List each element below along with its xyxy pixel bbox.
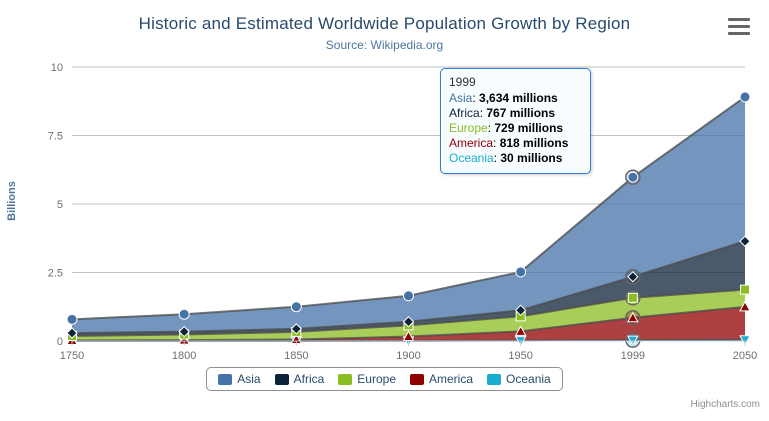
- menu-bar-2: [728, 25, 750, 28]
- legend-swatch-icon: [218, 374, 232, 385]
- chart-legend: AsiaAfricaEuropeAmericaOceania: [206, 367, 563, 391]
- tooltip-series-value: 729 millions: [494, 121, 563, 135]
- data-point-europe[interactable]: [741, 285, 750, 294]
- data-point-asia[interactable]: [516, 267, 526, 277]
- legend-swatch-icon: [410, 374, 424, 385]
- x-axis-tick-label: 2050: [733, 350, 757, 362]
- data-point-asia[interactable]: [291, 302, 301, 312]
- y-axis-tick-label: 2.5: [48, 268, 63, 280]
- legend-item-asia[interactable]: Asia: [218, 372, 260, 386]
- menu-bar-1: [728, 18, 750, 21]
- chart-title: Historic and Estimated Worldwide Populat…: [0, 14, 769, 34]
- data-point-asia[interactable]: [179, 309, 189, 319]
- y-axis-title: Billions: [6, 181, 18, 221]
- x-axis-tick-label: 1900: [396, 350, 420, 362]
- tooltip-row-america: America: 818 millions: [449, 136, 582, 151]
- point-marker-square: [628, 293, 637, 302]
- point-marker-circle: [179, 309, 189, 319]
- x-axis-tick-label: 1850: [284, 350, 308, 362]
- tooltip-series-name: Oceania: [449, 151, 494, 165]
- chart-plot-area: 02.557.5101750180018501900195019992050: [0, 0, 769, 416]
- menu-bar-3: [728, 32, 750, 35]
- tooltip-series-value: 30 millions: [500, 151, 562, 165]
- tooltip-series-name: Europe: [449, 121, 488, 135]
- chart-subtitle: Source: Wikipedia.org: [0, 38, 769, 52]
- legend-swatch-icon: [338, 374, 352, 385]
- hamburger-menu-icon[interactable]: [728, 18, 750, 36]
- point-marker-circle: [516, 267, 526, 277]
- tooltip-row-oceania: Oceania: 30 millions: [449, 151, 582, 166]
- x-axis-tick-label: 1950: [508, 350, 532, 362]
- tooltip-series-name: Asia: [449, 91, 472, 105]
- point-marker-circle: [67, 314, 77, 324]
- tooltip-row-asia: Asia: 3,634 millions: [449, 91, 582, 106]
- data-point-asia[interactable]: [67, 314, 77, 324]
- legend-item-oceania[interactable]: Oceania: [487, 372, 551, 386]
- x-axis-tick-label: 1999: [621, 350, 645, 362]
- x-axis-tick-label: 1750: [60, 350, 84, 362]
- y-axis-tick-label: 5: [57, 199, 63, 211]
- point-marker-circle: [404, 291, 414, 301]
- tooltip-row-europe: Europe: 729 millions: [449, 121, 582, 136]
- y-axis-tick-label: 10: [51, 62, 63, 74]
- tooltip-series-name: America: [449, 136, 493, 150]
- legend-item-label: Asia: [237, 372, 260, 386]
- legend-item-africa[interactable]: Africa: [275, 372, 325, 386]
- data-point-europe[interactable]: [626, 291, 640, 305]
- data-point-africa[interactable]: [626, 270, 640, 284]
- tooltip-series-name: Africa: [449, 106, 480, 120]
- data-point-asia[interactable]: [404, 291, 414, 301]
- legend-swatch-icon: [275, 374, 289, 385]
- tooltip-row-africa: Africa: 767 millions: [449, 106, 582, 121]
- data-point-asia[interactable]: [626, 170, 640, 184]
- legend-item-label: Africa: [294, 372, 325, 386]
- legend-swatch-icon: [487, 374, 501, 385]
- tooltip-series-value: 3,634 millions: [479, 91, 558, 105]
- legend-item-america[interactable]: America: [410, 372, 473, 386]
- point-marker-square: [741, 285, 750, 294]
- highcharts-container: Historic and Estimated Worldwide Populat…: [0, 0, 769, 416]
- tooltip-series-value: 818 millions: [500, 136, 569, 150]
- tooltip-series-value: 767 millions: [486, 106, 555, 120]
- point-marker-circle: [291, 302, 301, 312]
- data-point-asia[interactable]: [740, 92, 750, 102]
- legend-item-label: Europe: [357, 372, 396, 386]
- highcharts-credit-link[interactable]: Highcharts.com: [691, 399, 760, 410]
- y-axis-tick-label: 0: [57, 336, 63, 348]
- legend-item-europe[interactable]: Europe: [338, 372, 396, 386]
- y-axis-tick-label: 7.5: [48, 131, 63, 143]
- chart-tooltip: 1999 Asia: 3,634 millionsAfrica: 767 mil…: [440, 68, 591, 174]
- point-marker-circle: [740, 92, 750, 102]
- data-point-america[interactable]: [626, 311, 640, 325]
- legend-item-label: America: [429, 372, 473, 386]
- legend-item-label: Oceania: [506, 372, 551, 386]
- x-axis-tick-label: 1800: [172, 350, 196, 362]
- tooltip-header: 1999: [449, 75, 582, 89]
- point-marker-circle: [628, 172, 638, 182]
